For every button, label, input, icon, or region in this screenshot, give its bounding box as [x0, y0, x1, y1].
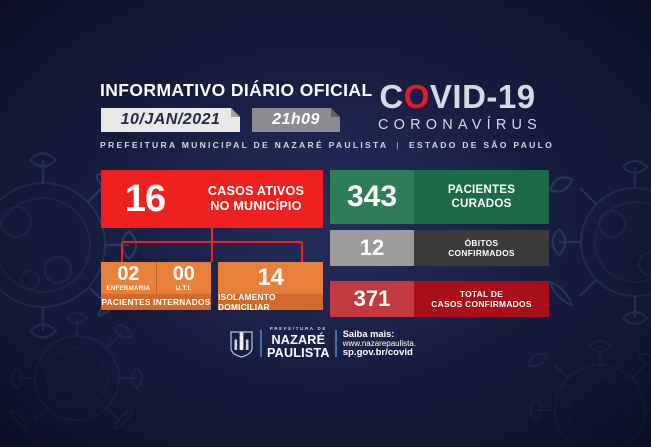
- confirmed-deaths-card: 12 ÓBITOS CONFIRMADOS: [330, 230, 549, 266]
- city-brand-prefix: PREFEITURA DE: [267, 327, 330, 331]
- footer: PREFEITURA DE NAZARÉ PAULISTA Saiba mais…: [228, 328, 416, 359]
- active-cases-label: CASOS ATIVOS NO MUNICÍPIO: [189, 170, 323, 228]
- footer-divider-2: [335, 330, 337, 357]
- confirmed-deaths-label: ÓBITOS CONFIRMADOS: [414, 230, 549, 266]
- home-isolation-footer-label: ISOLAMENTO DOMICILIAR: [218, 294, 323, 310]
- home-isolation-cell: 14: [218, 262, 323, 294]
- covid-logo-word-rest: VID-19: [430, 78, 536, 115]
- icu-label: U.T.I.: [176, 286, 192, 292]
- total-confirmed-cases-label: TOTAL DE CASOS CONFIRMADOS: [414, 281, 549, 317]
- footer-divider-1: [260, 330, 262, 357]
- covid-daily-report-poster: INFORMATIVO DIÁRIO OFICIAL 10/JAN/2021 2…: [0, 0, 651, 447]
- ward-value: 02: [117, 264, 139, 284]
- hospitalized-cells-row: 02 ENFERMARIA 00 U.T.I.: [101, 262, 211, 294]
- covid-logo: COVID-19 CORONAVÍRUS: [360, 80, 555, 133]
- ward-label: ENFERMARIA: [106, 286, 150, 292]
- confirmed-deaths-label-line2: CONFIRMADOS: [448, 248, 515, 258]
- hospitalized-footer-label: PACIENTES INTERNADOS: [101, 294, 211, 310]
- cured-patients-card: 343 PACIENTES CURADOS: [330, 170, 549, 224]
- covid-logo-subtitle: CORONAVÍRUS: [360, 118, 555, 133]
- cured-patients-value: 343: [330, 170, 414, 224]
- total-confirmed-cases-label-line1: TOTAL DE: [460, 289, 503, 299]
- breakdown-connector: [101, 228, 323, 263]
- total-confirmed-cases-label-line2: CASOS CONFIRMADOS: [431, 299, 531, 309]
- cured-patients-label-line1: PACIENTES: [448, 183, 515, 197]
- home-isolation-value: 14: [257, 266, 283, 290]
- confirmed-deaths-label-line1: ÓBITOS: [465, 238, 499, 248]
- city-brand-line1: NAZARÉ: [267, 334, 330, 347]
- date-badge-label: 10/JAN/2021: [121, 111, 221, 129]
- city-brand-line2: PAULISTA: [267, 347, 330, 360]
- active-cases-card: 16 CASOS ATIVOS NO MUNICÍPIO: [101, 170, 323, 228]
- confirmed-deaths-value: 12: [330, 230, 414, 266]
- time-badge: 21h09: [252, 108, 340, 132]
- ward-cell: 02 ENFERMARIA: [101, 262, 156, 294]
- active-cases-label-line2: NO MUNICÍPIO: [210, 199, 301, 214]
- covid-logo-letter-c: C: [379, 78, 403, 115]
- header-subtitle-city: PREFEITURA MUNICIPAL DE NAZARÉ PAULISTA: [100, 140, 388, 150]
- icu-cell: 00 U.T.I.: [156, 262, 212, 294]
- total-confirmed-cases-card: 371 TOTAL DE CASOS CONFIRMADOS: [330, 281, 549, 317]
- icu-value: 00: [173, 264, 195, 284]
- cured-patients-label-line2: CURADOS: [451, 197, 511, 211]
- city-brand: PREFEITURA DE NAZARÉ PAULISTA: [267, 327, 330, 359]
- home-isolation-breakdown-box: 14 ISOLAMENTO DOMICILIAR: [218, 262, 323, 310]
- hospitalized-breakdown-box: 02 ENFERMARIA 00 U.T.I. PACIENTES INTERN…: [101, 262, 211, 310]
- covid-logo-letter-o: O: [404, 78, 430, 115]
- website-info: Saiba mais: www.nazarepaulista. sp.gov.b…: [343, 329, 416, 359]
- covid-logo-word: COVID-19: [360, 80, 555, 113]
- website-info-title: Saiba mais:: [343, 329, 416, 339]
- home-isolation-cells-row: 14: [218, 262, 323, 294]
- total-confirmed-cases-value: 371: [330, 281, 414, 317]
- page-title: INFORMATIVO DIÁRIO OFICIAL: [100, 80, 373, 101]
- website-url-line2[interactable]: sp.gov.br/covid: [343, 348, 416, 359]
- header-subtitle-separator: |: [388, 140, 409, 150]
- active-cases-value: 16: [101, 170, 189, 228]
- cured-patients-label: PACIENTES CURADOS: [414, 170, 549, 224]
- active-cases-label-line1: CASOS ATIVOS: [208, 184, 304, 199]
- date-badge: 10/JAN/2021: [101, 108, 240, 132]
- city-crest-icon: [228, 329, 255, 358]
- header-subtitle: PREFEITURA MUNICIPAL DE NAZARÉ PAULISTA|…: [100, 140, 554, 150]
- time-badge-label: 21h09: [272, 111, 320, 129]
- header-subtitle-state: ESTADO DE SÃO PAULO: [409, 140, 554, 150]
